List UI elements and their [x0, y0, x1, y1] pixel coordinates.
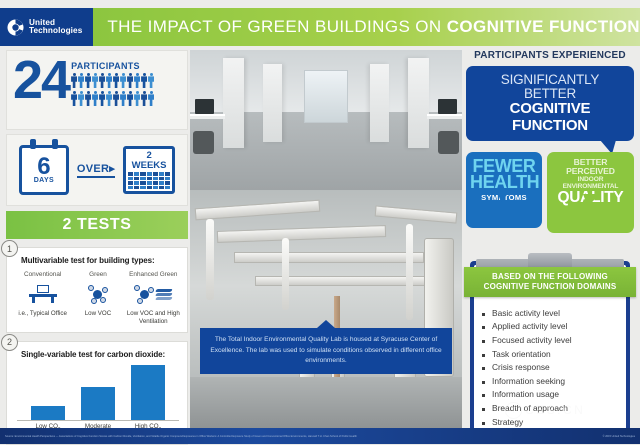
title-banner: THE IMPACT OF GREEN BUILDINGS ON COGNITI…	[93, 8, 640, 46]
bubble-quality-line-1: BETTER PERCEIVED	[552, 158, 629, 176]
person-icon	[120, 91, 126, 107]
molecule-atom	[102, 287, 108, 293]
left-column: 24 PARTICIPANTS 6 DAYS OVER▸ 2 WEEKS 2 T…	[6, 50, 188, 430]
people-row	[71, 91, 154, 107]
molecule-atom	[88, 285, 94, 291]
office-corridor-photo	[190, 50, 462, 190]
building-type-foot: Low VOC	[71, 310, 125, 318]
over-label: OVER▸	[77, 162, 115, 178]
bubble-quality-line-2: INDOOR ENVIRONMENTAL	[552, 176, 629, 191]
clipboard-banner-line-2: COGNITIVE FUNCTION DOMAINS	[470, 282, 630, 292]
days-label: DAYS	[34, 177, 54, 184]
calendar-day-cell	[134, 181, 139, 185]
days-calendar-icon: 6 DAYS	[19, 145, 69, 195]
calendar-day-cell	[165, 177, 170, 181]
footer-copyright: © 2015 United Technologies	[603, 435, 635, 438]
list-item: Information usage	[482, 388, 618, 402]
airflow-line	[156, 297, 173, 300]
weeks-grid	[128, 172, 170, 189]
weeks-label: 2 WEEKS	[128, 151, 170, 170]
co2-bar-chart	[17, 365, 179, 421]
corridor-window	[304, 70, 348, 123]
molecule-airflow-icon	[126, 282, 180, 306]
air-duct	[234, 252, 424, 263]
office-chair	[193, 131, 215, 153]
calendar-day-cell	[159, 181, 164, 185]
page-title-light: THE IMPACT OF GREEN BUILDINGS ON	[107, 17, 446, 36]
page-title: THE IMPACT OF GREEN BUILDINGS ON COGNITI…	[107, 17, 640, 37]
secondary-bubbles: FEWER HEALTH SYMPTOMS BETTER PERCEIVED I…	[466, 152, 634, 233]
calendar-day-cell	[165, 172, 170, 176]
chart-bar	[131, 365, 165, 420]
person-icon	[71, 91, 77, 107]
person-icon	[141, 91, 147, 107]
corridor-wall	[223, 58, 245, 148]
molecule-atom	[100, 297, 106, 303]
right-column: PARTICIPANTS EXPERIENCED SIGNIFICANTLY B…	[466, 50, 634, 430]
pipe	[282, 238, 289, 310]
calendar-day-cell	[140, 181, 145, 185]
office-chair	[438, 131, 460, 153]
person-icon	[127, 73, 133, 89]
infographic-page: United Technologies THE IMPACT OF GREEN …	[0, 0, 640, 444]
list-item: Information seeking	[482, 375, 618, 389]
person-icon	[120, 73, 126, 89]
participants-number: 24	[13, 55, 69, 129]
list-item: Breadth of approach	[482, 402, 618, 416]
air-duct	[255, 276, 429, 286]
duration-card: 6 DAYS OVER▸ 2 WEEKS	[6, 134, 188, 206]
bubble-main-line-2: COGNITIVE FUNCTION	[474, 101, 626, 133]
bubble-tail	[583, 194, 599, 224]
person-icon	[113, 91, 119, 107]
molecule-atom	[148, 287, 154, 293]
person-icon	[148, 91, 154, 107]
mechanical-room-photo	[190, 190, 462, 430]
person-icon	[99, 91, 105, 107]
tests-bar: 2 TESTS	[6, 211, 188, 239]
person-icon	[85, 91, 91, 107]
clipboard-banner: BASED ON THE FOLLOWING COGNITIVE FUNCTIO…	[464, 267, 636, 297]
clipboard-banner-line-1: BASED ON THE FOLLOWING	[470, 272, 630, 282]
pipe	[406, 224, 413, 320]
calendar-day-cell	[140, 172, 145, 176]
mechanical-room-floor	[190, 377, 462, 430]
workstation-monitor	[195, 99, 214, 114]
chart-bar	[31, 406, 65, 420]
test-1-card: 1 Multivariable test for building types:…	[6, 247, 188, 333]
header: United Technologies THE IMPACT OF GREEN …	[0, 8, 640, 46]
calendar-day-cell	[128, 186, 133, 190]
building-type-columns: Conventional i.e., Typical Office Green	[15, 271, 181, 326]
workstation-desk	[190, 114, 225, 118]
calendar-day-cell	[147, 181, 152, 185]
bubble-indoor-quality: BETTER PERCEIVED INDOOR ENVIRONMENTAL QU…	[547, 152, 634, 233]
participants-label: PARTICIPANTS	[71, 61, 154, 71]
cognitive-domains-list: Basic activity levelApplied activity lev…	[482, 307, 618, 429]
molecule-atom	[137, 298, 143, 304]
corridor-wall	[408, 58, 430, 148]
air-duct	[217, 225, 386, 243]
list-item: Crisis response	[482, 361, 618, 375]
calendar-day-cell	[147, 177, 152, 181]
list-item: Task orientation	[482, 348, 618, 362]
bubble-fewer-health-symptoms: FEWER HEALTH SYMPTOMS	[466, 152, 542, 228]
airflow-icon	[156, 286, 172, 302]
tests-bar-label: 2 TESTS	[62, 216, 131, 234]
building-type-head: Enhanced Green	[126, 271, 180, 278]
test-2-title: Single-variable test for carbon dioxide:	[21, 350, 181, 359]
person-icon	[92, 91, 98, 107]
person-icon	[141, 73, 147, 89]
calendar-day-cell	[128, 172, 133, 176]
calendar-day-cell	[159, 186, 164, 190]
bubble-cognitive-function: SIGNIFICANTLY BETTER COGNITIVE FUNCTION	[466, 66, 634, 141]
building-type-head: Conventional	[16, 271, 70, 278]
footer: Source: Environmental Health Perspective…	[0, 428, 640, 444]
page-title-bold: COGNITIVE FUNCTION	[447, 17, 640, 36]
bar-column	[81, 365, 115, 420]
brand-logo: United Technologies	[0, 8, 93, 46]
calendar-day-cell	[165, 186, 170, 190]
person-icon	[134, 91, 140, 107]
calendar-day-cell	[159, 177, 164, 181]
person-icon	[78, 73, 84, 89]
participants-experienced-label: PARTICIPANTS EXPERIENCED	[466, 50, 634, 61]
chart-bar	[81, 387, 115, 420]
molecule-atom	[91, 298, 97, 304]
logo-line-2: Technologies	[29, 27, 82, 35]
building-type-enhanced-green: Enhanced Green	[126, 271, 180, 326]
molecule-icon-shape	[134, 284, 154, 304]
building-type-foot: Low VOC and High Ventilation	[126, 310, 180, 326]
footer-source-note: Source: Environmental Health Perspective…	[5, 435, 357, 438]
air-duct	[195, 200, 321, 221]
calendar-day-cell	[153, 177, 158, 181]
person-icon	[99, 73, 105, 89]
desk-icon	[16, 282, 70, 306]
test-1-title: Multivariable test for building types:	[21, 256, 181, 265]
bubble-main-line-1: SIGNIFICANTLY BETTER	[474, 73, 626, 101]
participants-card: 24 PARTICIPANTS	[6, 50, 188, 130]
calendar-day-cell	[140, 177, 145, 181]
clipboard: Basic activity levelApplied activity lev…	[466, 253, 634, 441]
person-icon	[134, 73, 140, 89]
building-type-foot: i.e., Typical Office	[16, 310, 70, 318]
days-number: 6	[37, 156, 50, 178]
corridor-wall	[263, 64, 282, 142]
calendar-day-cell	[147, 172, 152, 176]
calendar-day-cell	[165, 181, 170, 185]
calendar-day-cell	[134, 172, 139, 176]
test-1-number: 1	[1, 240, 18, 257]
person-icon	[113, 73, 119, 89]
calendar-day-cell	[128, 177, 133, 181]
bar-column	[31, 365, 65, 420]
calendar-day-cell	[128, 181, 133, 185]
desk-leg	[51, 297, 54, 303]
bar-column	[131, 365, 165, 420]
airflow-line	[156, 289, 173, 292]
building-type-green: Green Low VOC	[71, 271, 125, 318]
person-icon	[92, 73, 98, 89]
list-item: Applied activity level	[482, 320, 618, 334]
clipboard-clamp-icon	[528, 253, 572, 268]
monitor-icon	[37, 285, 49, 293]
list-item: Basic activity level	[482, 307, 618, 321]
workstation-desk	[427, 114, 462, 118]
people-row	[71, 73, 154, 89]
list-item: Focused activity level	[482, 334, 618, 348]
calendar-day-cell	[153, 186, 158, 190]
person-icon	[127, 91, 133, 107]
pipe	[206, 219, 214, 301]
photo-caption: The Total Indoor Environmental Quality L…	[200, 328, 452, 374]
calendar-day-cell	[140, 186, 145, 190]
desk-icon-shape	[29, 285, 57, 303]
calendar-day-cell	[153, 172, 158, 176]
person-icon	[106, 91, 112, 107]
person-icon	[85, 73, 91, 89]
person-icon	[106, 73, 112, 89]
desk-leg	[32, 297, 35, 303]
united-technologies-logo-icon	[7, 19, 24, 36]
corridor-wall	[370, 64, 389, 142]
building-type-conventional: Conventional i.e., Typical Office	[16, 271, 70, 318]
calendar-day-cell	[159, 172, 164, 176]
bubble-tail	[496, 189, 512, 219]
building-type-head: Green	[71, 271, 125, 278]
airflow-line	[156, 293, 173, 296]
calendar-day-cell	[147, 186, 152, 190]
over-text: OVER	[77, 163, 109, 175]
person-icon	[78, 91, 84, 107]
molecule-icon-shape	[88, 284, 108, 304]
person-icon	[148, 73, 154, 89]
logo-wordmark: United Technologies	[29, 19, 82, 36]
molecule-icon	[71, 282, 125, 306]
molecule-atom	[134, 285, 140, 291]
workstation-monitor	[438, 99, 457, 114]
participants-graphic: PARTICIPANTS	[71, 55, 154, 129]
test-2-number: 2	[1, 334, 18, 351]
air-duct	[375, 206, 457, 224]
calendar-day-cell	[134, 186, 139, 190]
person-icon	[71, 73, 77, 89]
weeks-calendar-icon: 2 WEEKS	[123, 146, 175, 194]
calendar-day-cell	[153, 181, 158, 185]
calendar-day-cell	[134, 177, 139, 181]
center-column: The Total Indoor Environmental Quality L…	[190, 50, 462, 430]
